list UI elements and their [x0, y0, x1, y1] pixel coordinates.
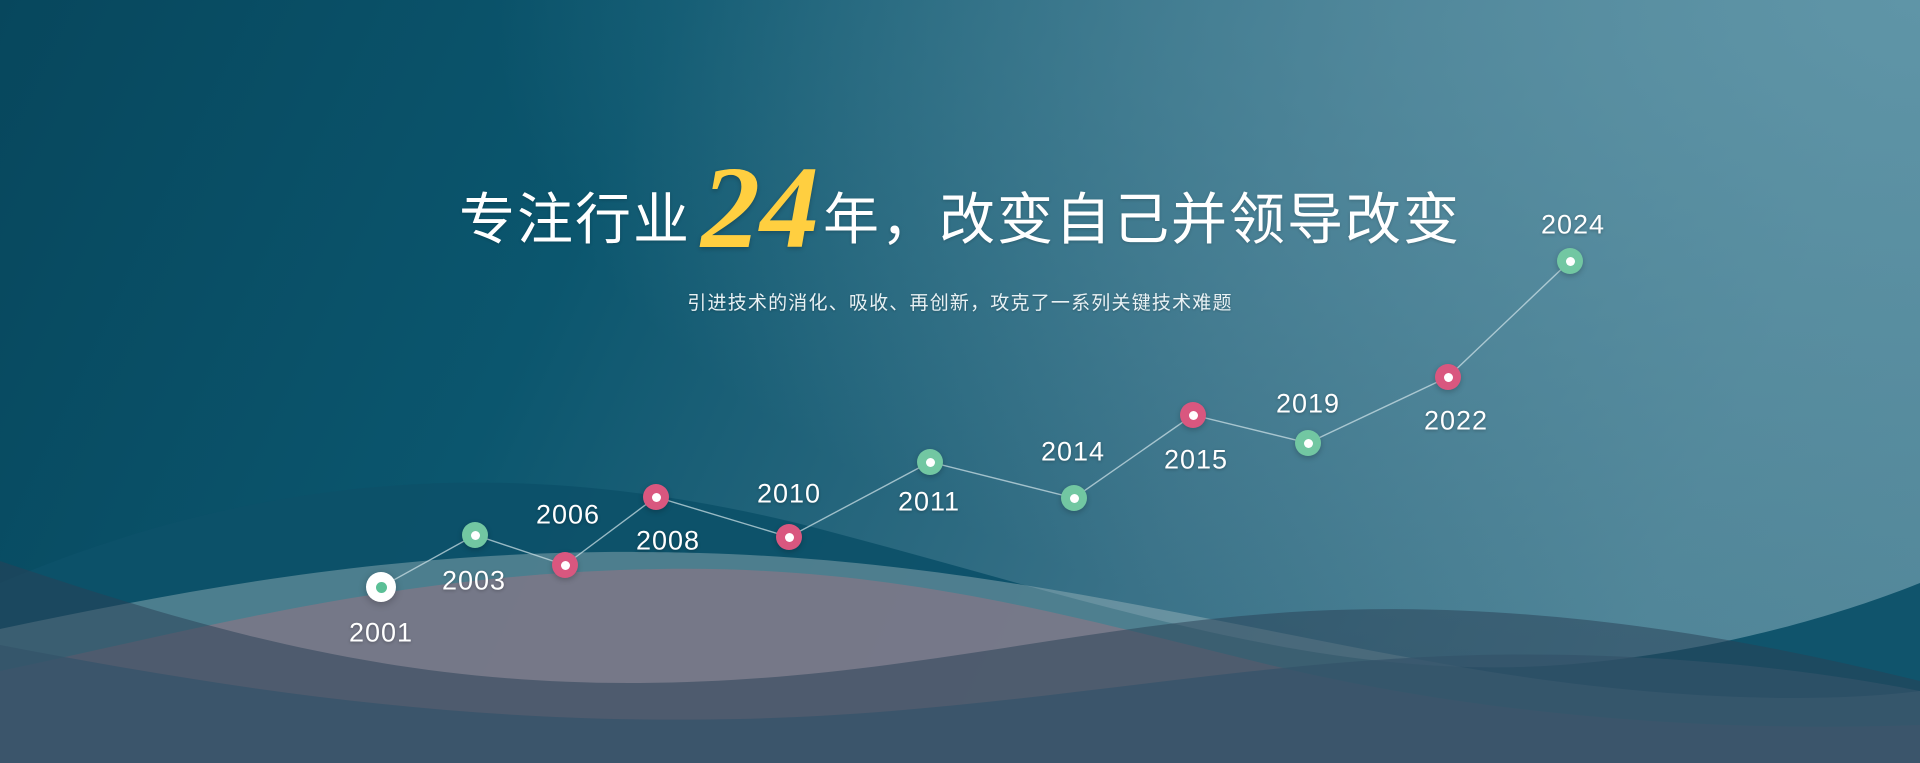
- timeline-node-2014[interactable]: [1061, 485, 1087, 511]
- timeline-node-core: [1566, 257, 1575, 266]
- timeline-node-2015[interactable]: [1180, 402, 1206, 428]
- timeline-chart: 2001200320062008201020112014201520192022…: [0, 0, 1920, 763]
- timeline-node-core: [652, 493, 661, 502]
- timeline-node-2003[interactable]: [462, 522, 488, 548]
- headline-suffix: 年，改变自己并领导改变: [823, 175, 1461, 256]
- timeline-node-2001[interactable]: [366, 572, 396, 602]
- timeline-connector-lines: [0, 0, 1920, 763]
- timeline-node-core: [376, 582, 387, 593]
- timeline-year-label-2008: 2008: [636, 526, 700, 557]
- timeline-node-2019[interactable]: [1295, 430, 1321, 456]
- timeline-node-core: [926, 458, 935, 467]
- headline-prefix: 专注行业: [459, 175, 691, 256]
- timeline-node-core: [1304, 439, 1313, 448]
- timeline-year-label-2003: 2003: [442, 566, 506, 597]
- timeline-node-2010[interactable]: [776, 524, 802, 550]
- page-title: 专注行业24年，改变自己并领导改变: [0, 170, 1920, 256]
- timeline-year-label-2006: 2006: [536, 500, 600, 531]
- timeline-year-label-2015: 2015: [1164, 445, 1228, 476]
- timeline-node-core: [1444, 373, 1453, 382]
- page-subtitle: 引进技术的消化、吸收、再创新，攻克了一系列关键技术难题: [0, 288, 1920, 315]
- timeline-node-2008[interactable]: [643, 484, 669, 510]
- timeline-year-label-2014: 2014: [1041, 437, 1105, 468]
- timeline-node-2006[interactable]: [552, 552, 578, 578]
- timeline-node-core: [1070, 494, 1079, 503]
- timeline-year-label-2010: 2010: [757, 479, 821, 510]
- banner-stage: 2001200320062008201020112014201520192022…: [0, 0, 1920, 763]
- timeline-year-label-2011: 2011: [898, 487, 960, 518]
- headline-number: 24: [701, 142, 819, 273]
- timeline-year-label-2022: 2022: [1424, 406, 1488, 437]
- timeline-node-core: [785, 533, 794, 542]
- timeline-node-core: [471, 531, 480, 540]
- timeline-year-label-2001: 2001: [349, 618, 413, 649]
- timeline-year-label-2019: 2019: [1276, 389, 1340, 420]
- timeline-node-core: [1189, 411, 1198, 420]
- timeline-node-2011[interactable]: [917, 449, 943, 475]
- timeline-node-core: [561, 561, 570, 570]
- timeline-node-2022[interactable]: [1435, 364, 1461, 390]
